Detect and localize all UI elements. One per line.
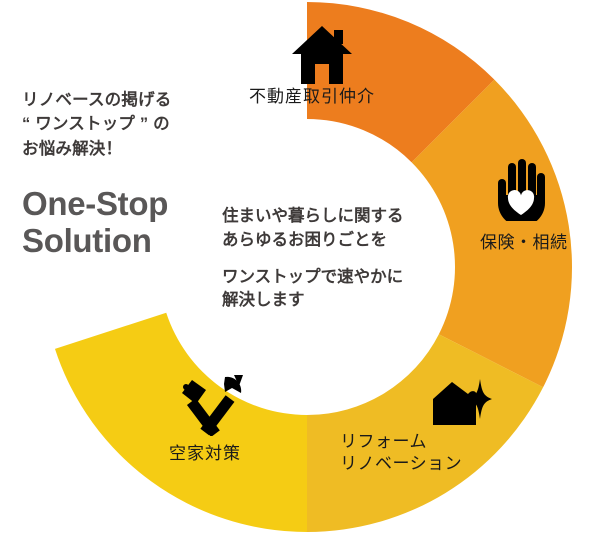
headline-block: リノベースの掲げる “ ワンストップ ” の お悩み解決！ One-Stop S…	[22, 88, 222, 260]
headline-lead: リノベースの掲げる “ ワンストップ ” の お悩み解決！	[22, 88, 222, 161]
segment-label-insurance: 保険・相続	[480, 232, 568, 254]
center-paragraph-1: 住まいや暮らしに関する あらゆるお困りごとを	[222, 205, 437, 253]
house-sparkle-icon	[430, 379, 492, 431]
house-icon	[290, 24, 354, 86]
segment-label-vacant: 空家対策	[169, 443, 241, 465]
page-title: One-Stop Solution	[22, 185, 222, 260]
segment-label-realestate: 不動産取引仲介	[249, 86, 375, 108]
tools-icon	[176, 374, 246, 436]
center-description: 住まいや暮らしに関する あらゆるお困りごとを ワンストップで速やかに 解決します	[222, 205, 437, 313]
hand-heart-icon	[495, 159, 547, 221]
infographic-stage: 不動産取引仲介 保険・相続 リフォーム リノベーション 空家対策 リノベースの掲…	[0, 0, 600, 533]
center-paragraph-2: ワンストップで速やかに 解決します	[222, 266, 437, 314]
segment-label-reform: リフォーム リノベーション	[340, 431, 462, 476]
